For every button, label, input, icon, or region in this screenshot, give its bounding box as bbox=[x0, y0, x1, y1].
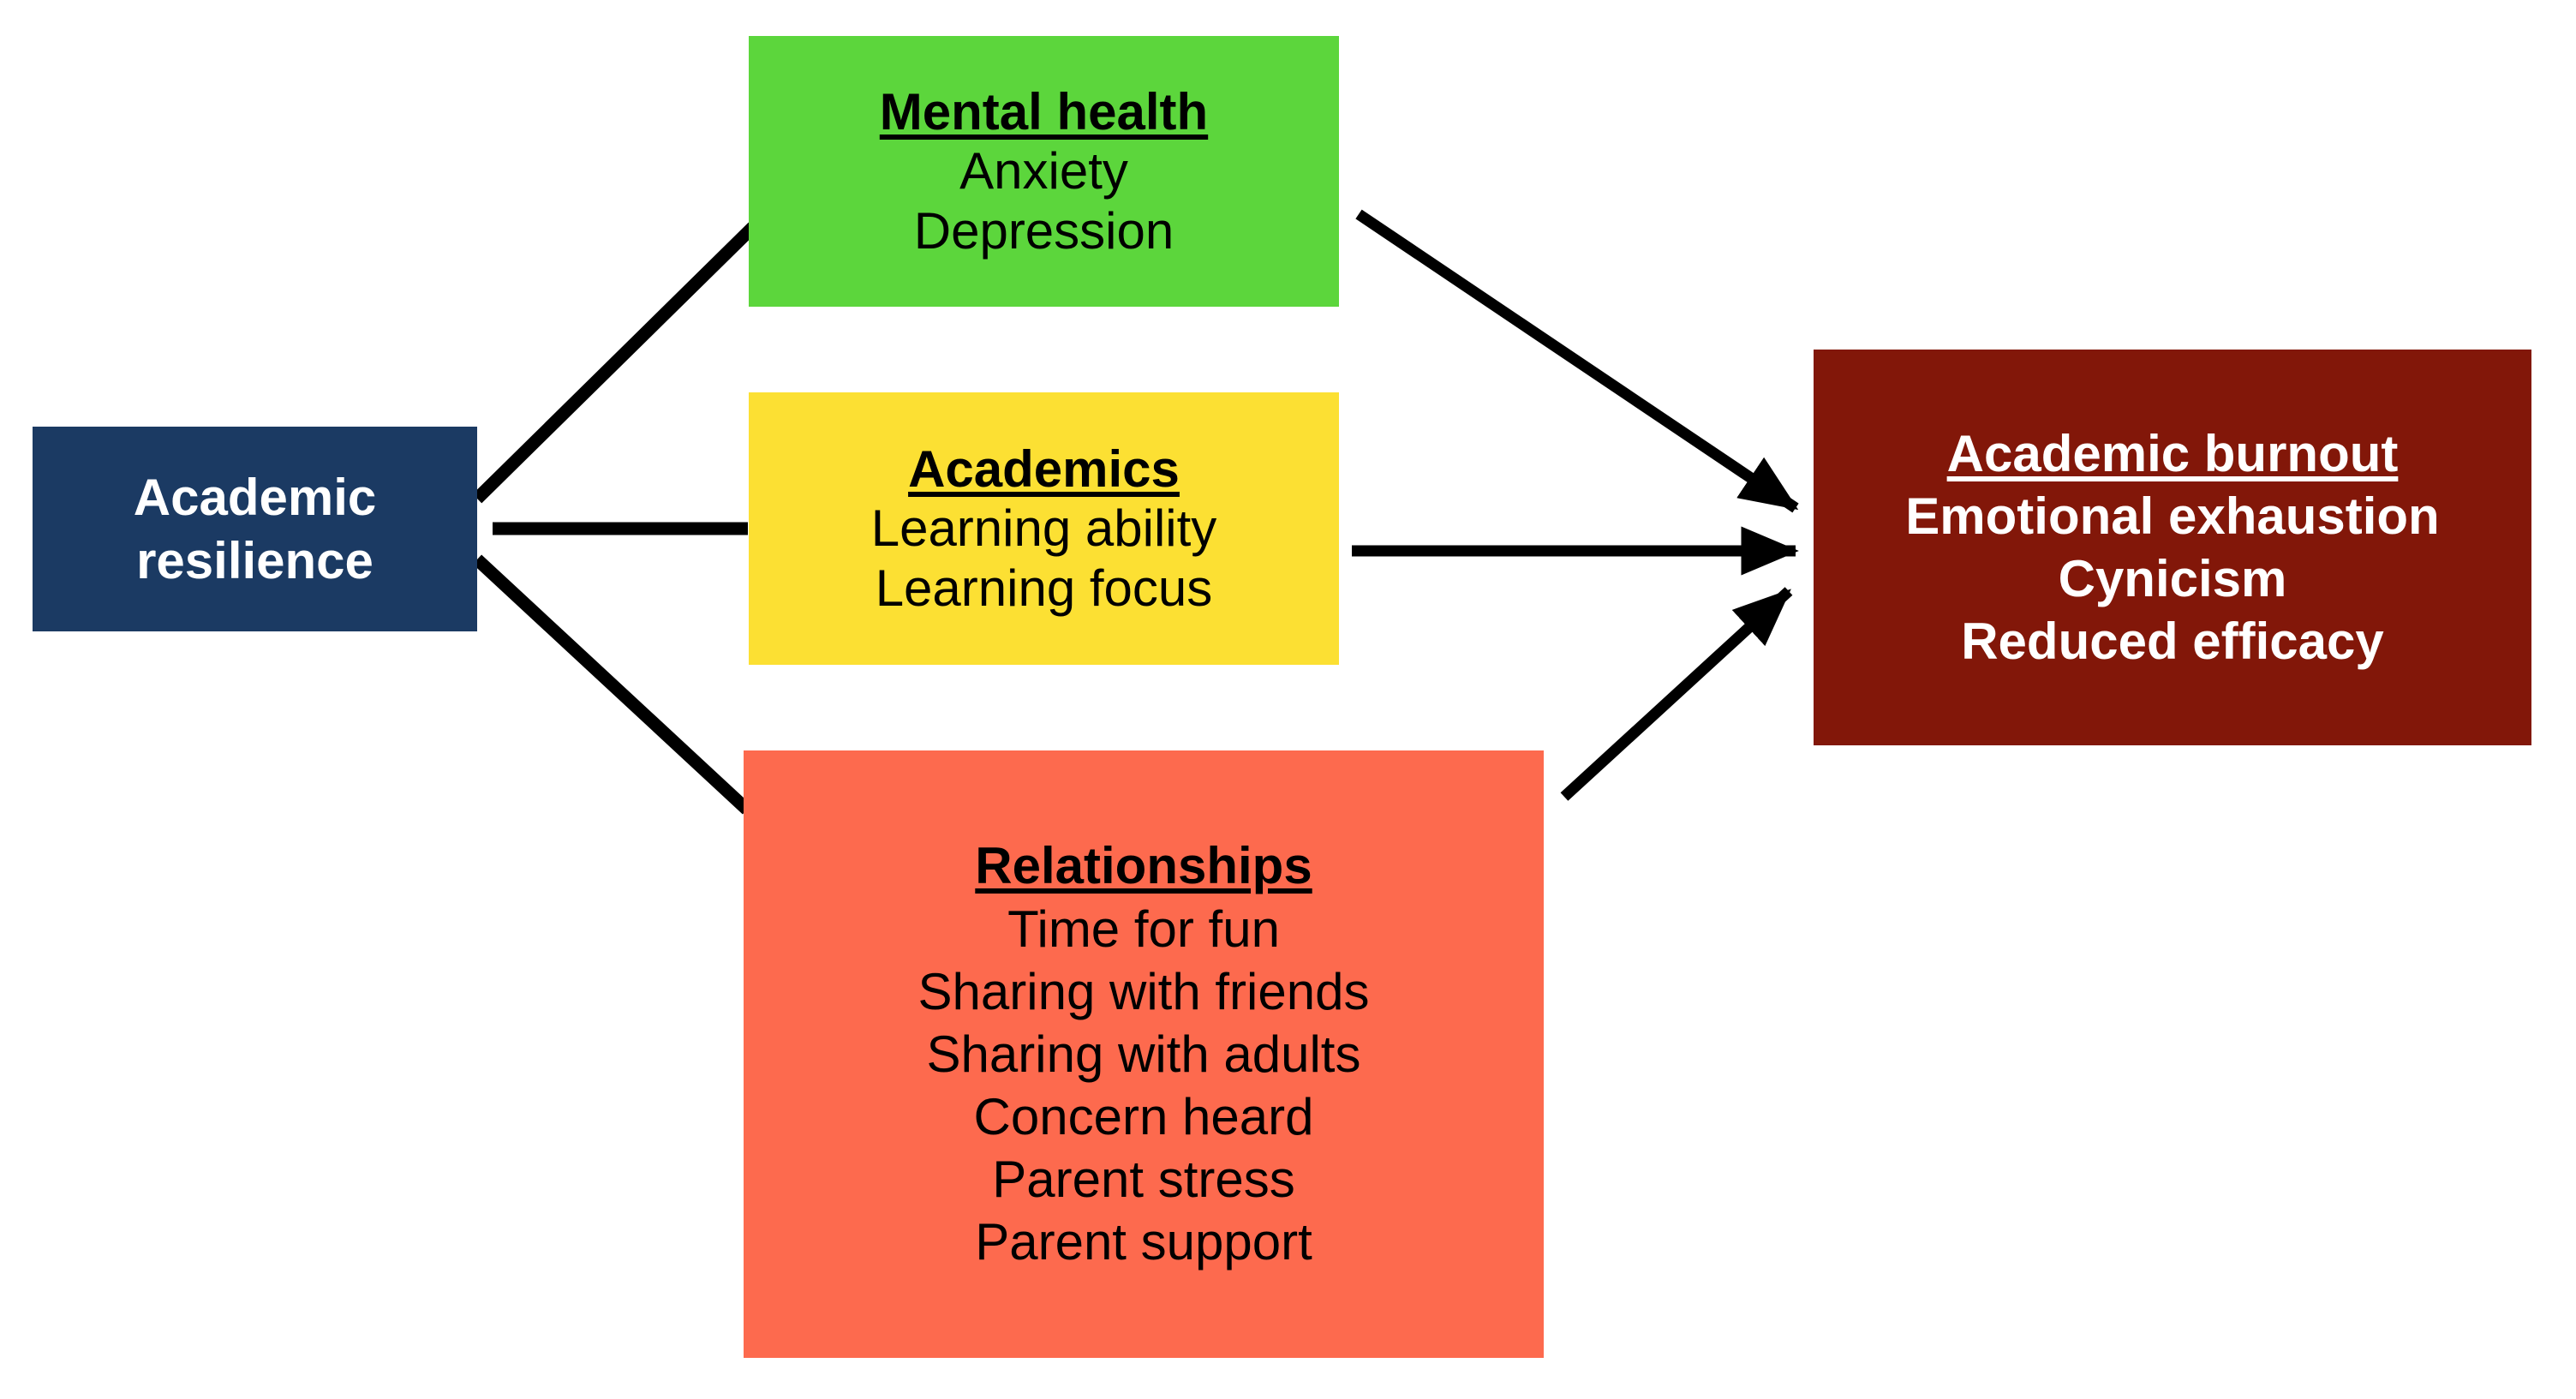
node-academic-burnout[interactable]: Academic burnout Emotional exhaustion Cy… bbox=[1814, 350, 2531, 745]
edge-mental-health-to-burnout bbox=[1359, 214, 1796, 508]
node-academic-burnout-item: Reduced efficacy bbox=[1961, 610, 2384, 673]
node-academics-item: Learning ability bbox=[871, 499, 1217, 559]
node-academics[interactable]: Academics Learning ability Learning focu… bbox=[749, 392, 1339, 665]
node-relationships-item: Parent stress bbox=[992, 1148, 1294, 1211]
node-academics-item: Learning focus bbox=[876, 559, 1213, 619]
node-relationships-header: Relationships bbox=[975, 834, 1312, 897]
node-academic-resilience[interactable]: Academic resilience bbox=[33, 427, 477, 631]
node-mental-health-item: Anxiety bbox=[959, 141, 1128, 201]
node-relationships[interactable]: Relationships Time for fun Sharing with … bbox=[744, 750, 1544, 1358]
node-relationships-item: Parent support bbox=[975, 1211, 1312, 1273]
node-academic-burnout-item: Emotional exhaustion bbox=[1905, 485, 2439, 547]
node-relationships-item: Sharing with adults bbox=[927, 1023, 1361, 1085]
edge-resilience-to-relationships bbox=[477, 559, 747, 810]
node-mental-health-header: Mental health bbox=[880, 82, 1208, 142]
node-academic-resilience-line-1: Academic bbox=[134, 466, 376, 529]
node-academic-burnout-item: Cynicism bbox=[2059, 547, 2287, 610]
node-relationships-item: Sharing with friends bbox=[918, 960, 1370, 1023]
edge-resilience-to-mental-health bbox=[477, 227, 753, 499]
node-mental-health-item: Depression bbox=[914, 201, 1174, 261]
node-mental-health[interactable]: Mental health Anxiety Depression bbox=[749, 36, 1339, 307]
edge-relationships-to-burnout bbox=[1564, 591, 1789, 797]
node-relationships-item: Time for fun bbox=[1007, 898, 1280, 960]
node-academic-burnout-header: Academic burnout bbox=[1947, 422, 2399, 485]
diagram-canvas: Academic resilience Mental health Anxiet… bbox=[0, 0, 2576, 1399]
node-academics-header: Academics bbox=[908, 439, 1180, 499]
node-relationships-item: Concern heard bbox=[974, 1085, 1314, 1148]
node-academic-resilience-line-2: resilience bbox=[136, 529, 374, 592]
